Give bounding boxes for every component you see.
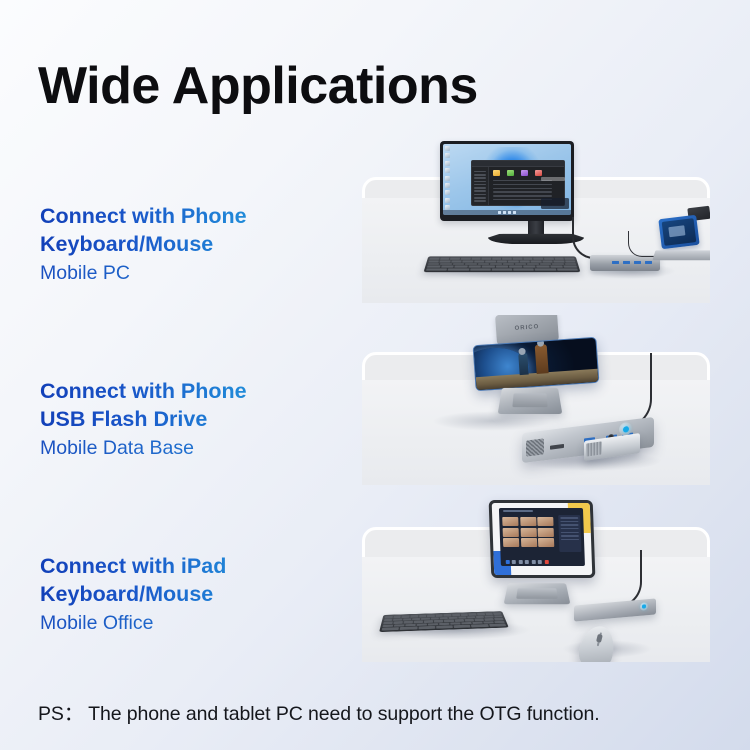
sd-card-slot — [550, 444, 564, 450]
window-titlebar — [503, 510, 533, 512]
feature-2-subtitle: Mobile Data Base — [40, 434, 340, 463]
tablet — [489, 500, 596, 578]
monitor-neck — [528, 221, 544, 235]
participant-grid — [502, 517, 555, 547]
tablet-screen — [492, 503, 593, 575]
monitor-base — [488, 233, 584, 244]
folder-row — [491, 170, 562, 176]
folder-icon — [521, 170, 528, 176]
product-photo-2: ORICO — [362, 315, 710, 485]
keyboard — [424, 256, 581, 272]
feature-block-3: Connect with iPad Keyboard/Mouse Mobile … — [40, 553, 340, 639]
participant-tile — [502, 528, 519, 537]
feature-1-line-1: Connect with Phone — [40, 203, 340, 231]
product-photo-3 — [362, 492, 710, 662]
video-call-window — [499, 508, 585, 566]
game-character — [535, 344, 549, 374]
feature-2-line-2: USB Flash Drive — [40, 406, 340, 434]
taskbar — [443, 210, 571, 215]
feature-3-line-2: Keyboard/Mouse — [40, 581, 340, 609]
game-character — [518, 352, 529, 375]
smartphone — [473, 337, 600, 392]
participant-tile — [520, 528, 537, 537]
participant-tile — [520, 517, 537, 526]
stand-base — [652, 250, 710, 260]
stand-slot — [516, 588, 557, 598]
participant-tile — [538, 528, 555, 537]
usb-port — [623, 261, 630, 264]
folder-icon — [493, 170, 500, 176]
chat-panel — [558, 515, 581, 552]
usb-port — [612, 261, 619, 264]
folder-icon — [507, 170, 514, 176]
power-button[interactable] — [640, 602, 648, 611]
feature-1-subtitle: Mobile PC — [40, 259, 340, 288]
participant-tile — [521, 538, 538, 547]
end-call-button[interactable] — [545, 560, 549, 564]
folder-icon — [535, 170, 542, 176]
more-button[interactable] — [538, 560, 542, 564]
vent-grille — [526, 438, 544, 456]
feature-2-line-1: Connect with Phone — [40, 378, 340, 406]
participants-button[interactable] — [525, 560, 529, 564]
participant-tile — [538, 517, 555, 526]
page-title: Wide Applications — [38, 58, 478, 115]
hdmi-cable — [572, 217, 616, 259]
feature-3-line-1: Connect with iPad — [40, 553, 340, 581]
explorer-sidebar — [472, 167, 489, 205]
system-tray-popup — [541, 198, 569, 209]
phone-screen — [662, 218, 697, 246]
feature-3-subtitle: Mobile Office — [40, 609, 340, 638]
participant-tile — [503, 538, 520, 547]
phone-stand — [498, 388, 563, 414]
monitor — [440, 141, 574, 221]
camera-button[interactable] — [512, 560, 516, 564]
smartphone — [658, 215, 699, 249]
feature-block-1: Connect with Phone Keyboard/Mouse Mobile… — [40, 203, 340, 289]
usb-port — [634, 261, 641, 264]
tablet-stand — [504, 583, 571, 604]
activate-windows-watermark — [541, 177, 565, 181]
feature-block-2: Connect with Phone USB Flash Drive Mobil… — [40, 378, 340, 464]
mic-button[interactable] — [506, 560, 510, 564]
footnote: PS： The phone and tablet PC need to supp… — [38, 697, 600, 726]
orico-logo: ORICO — [514, 324, 539, 332]
product-photo-1 — [362, 133, 710, 303]
participant-tile — [538, 538, 555, 547]
desktop-icons — [445, 146, 450, 210]
monitor-screen — [443, 144, 571, 215]
participant-tile — [502, 517, 519, 526]
share-button[interactable] — [519, 560, 523, 564]
phone-stand — [648, 203, 710, 265]
stand-slot — [513, 393, 548, 407]
call-controls — [506, 560, 549, 564]
chat-button[interactable] — [532, 560, 536, 564]
phone-screen — [474, 338, 599, 390]
feature-1-line-2: Keyboard/Mouse — [40, 231, 340, 259]
